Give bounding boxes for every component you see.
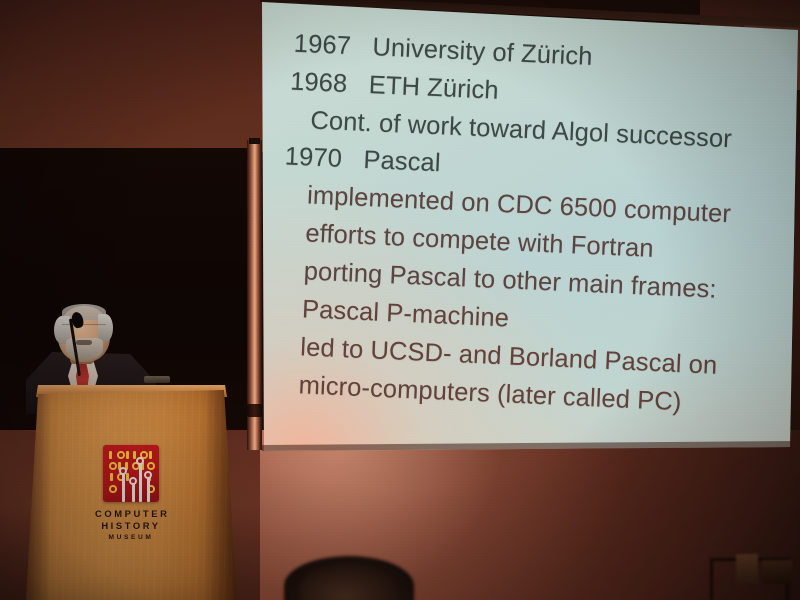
slide-line: 1967 University of Zürich (293, 30, 593, 72)
chair-cushion (736, 554, 758, 584)
pole-cap (249, 138, 260, 144)
logo-line-museum: MUSEUM (95, 534, 167, 541)
binary-one (133, 451, 136, 459)
binary-one (109, 451, 112, 459)
logo-line-history: HISTORY (95, 520, 167, 532)
binary-one (110, 473, 113, 481)
binary-logo-icon (103, 445, 159, 502)
binary-zero (109, 485, 117, 493)
circuit-trace (122, 471, 125, 502)
glasses (62, 324, 106, 334)
photo-scene: 1967 University of Zürich1968 ETH Zürich… (0, 0, 800, 600)
slide-text-block: 1967 University of Zürich1968 ETH Zürich… (238, 0, 800, 480)
circuit-trace (139, 461, 142, 502)
slide-line: 1970 Pascal (284, 142, 441, 178)
upper-wall (0, 0, 300, 152)
museum-logo-text: COMPUTER HISTORY MUSEUM (95, 508, 167, 541)
circuit-trace (147, 475, 150, 502)
slide-line: efforts to compete with Fortran (305, 219, 654, 263)
museum-logo: COMPUTER HISTORY MUSEUM (95, 445, 167, 560)
background-chair (700, 548, 796, 600)
binary-zero (147, 462, 155, 470)
binary-one (126, 451, 129, 459)
mouth (76, 340, 92, 345)
binary-zero (117, 451, 125, 459)
binary-one (126, 473, 129, 481)
pole-clamp (247, 404, 262, 417)
chair-back (762, 560, 792, 584)
slide-line: Pascal P-machine (301, 295, 509, 333)
slide-line: micro-computers (later called PC) (298, 371, 682, 417)
logo-line-computer: COMPUTER (95, 508, 167, 520)
projection-screen: 1967 University of Zürich1968 ETH Zürich… (258, 0, 800, 456)
chair-leg-left (710, 558, 713, 600)
lectern-object (144, 376, 170, 383)
circuit-node (144, 471, 152, 479)
binary-zero (109, 462, 117, 470)
circuit-node (129, 477, 137, 485)
binary-one (149, 451, 152, 459)
slide-line: 1968 ETH Zürich (290, 68, 500, 106)
